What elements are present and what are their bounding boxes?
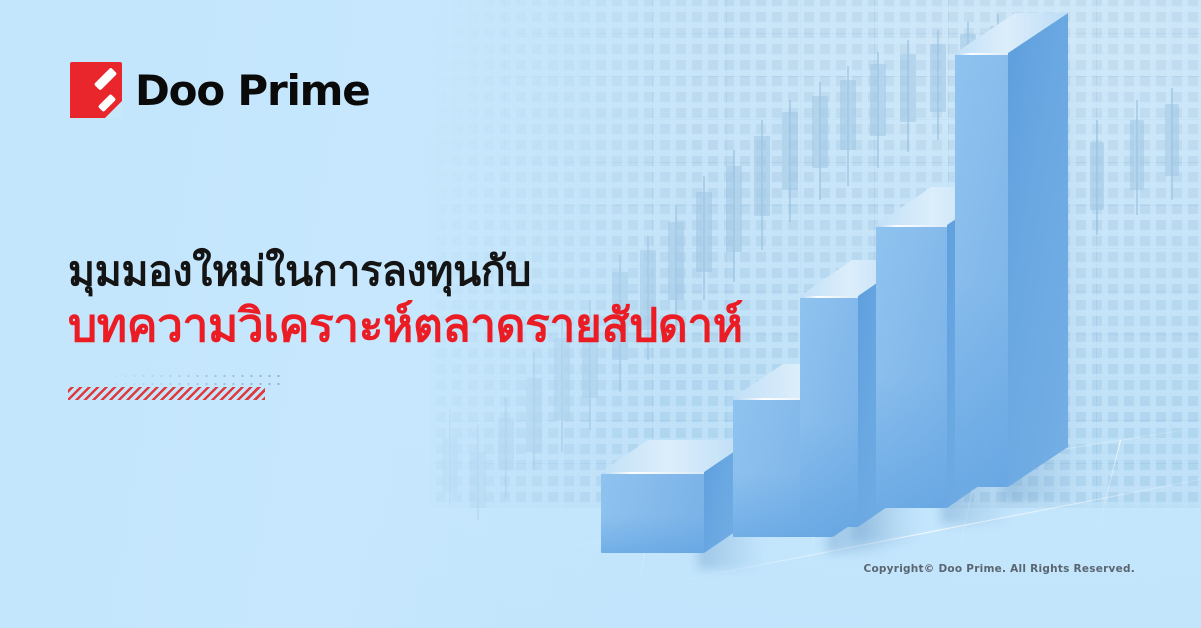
bar-top-highlight xyxy=(955,53,1008,55)
bar-top-highlight xyxy=(601,472,704,474)
bar-bottom-glow xyxy=(601,516,704,553)
headline-block: มุมมองใหม่ในการลงทุนกับ บทความวิเคราะห์ต… xyxy=(68,248,828,353)
bar-1 xyxy=(601,472,704,553)
banner-root: Doo Prime มุมมองใหม่ในการลงทุนกับ บทความ… xyxy=(0,0,1201,628)
doo-prime-logo-icon xyxy=(70,62,122,118)
bar-side-face xyxy=(1008,13,1068,487)
red-diagonal-stripe-bar xyxy=(68,387,265,400)
bar-front-face xyxy=(876,225,947,508)
bar-front-face xyxy=(955,53,1008,487)
bar-4 xyxy=(876,225,947,508)
decorative-accent xyxy=(68,372,283,404)
copyright-text: Copyright© Doo Prime. All Rights Reserve… xyxy=(863,563,1135,575)
bar-top-highlight xyxy=(800,296,858,298)
bar-front-face xyxy=(601,472,704,553)
bar-top-highlight xyxy=(876,225,947,227)
bar-3 xyxy=(800,296,858,527)
logo-corner-notch xyxy=(105,101,122,118)
brand-logo-text: Doo Prime xyxy=(135,66,370,115)
brand-logo[interactable]: Doo Prime xyxy=(70,62,370,118)
halftone-dot-grid xyxy=(112,372,284,388)
bar-5 xyxy=(955,53,1008,487)
headline-line-1: มุมมองใหม่ในการลงทุนกับ xyxy=(68,248,828,296)
bar-bottom-glow xyxy=(876,378,947,508)
bar-bottom-glow xyxy=(800,421,858,527)
bar-front-face xyxy=(800,296,858,527)
logo-slash-upper xyxy=(94,67,117,90)
headline-line-2: บทความวิเคราะห์ตลาดรายสัปดาห์ xyxy=(68,298,828,353)
bar-bottom-glow xyxy=(955,287,1008,487)
